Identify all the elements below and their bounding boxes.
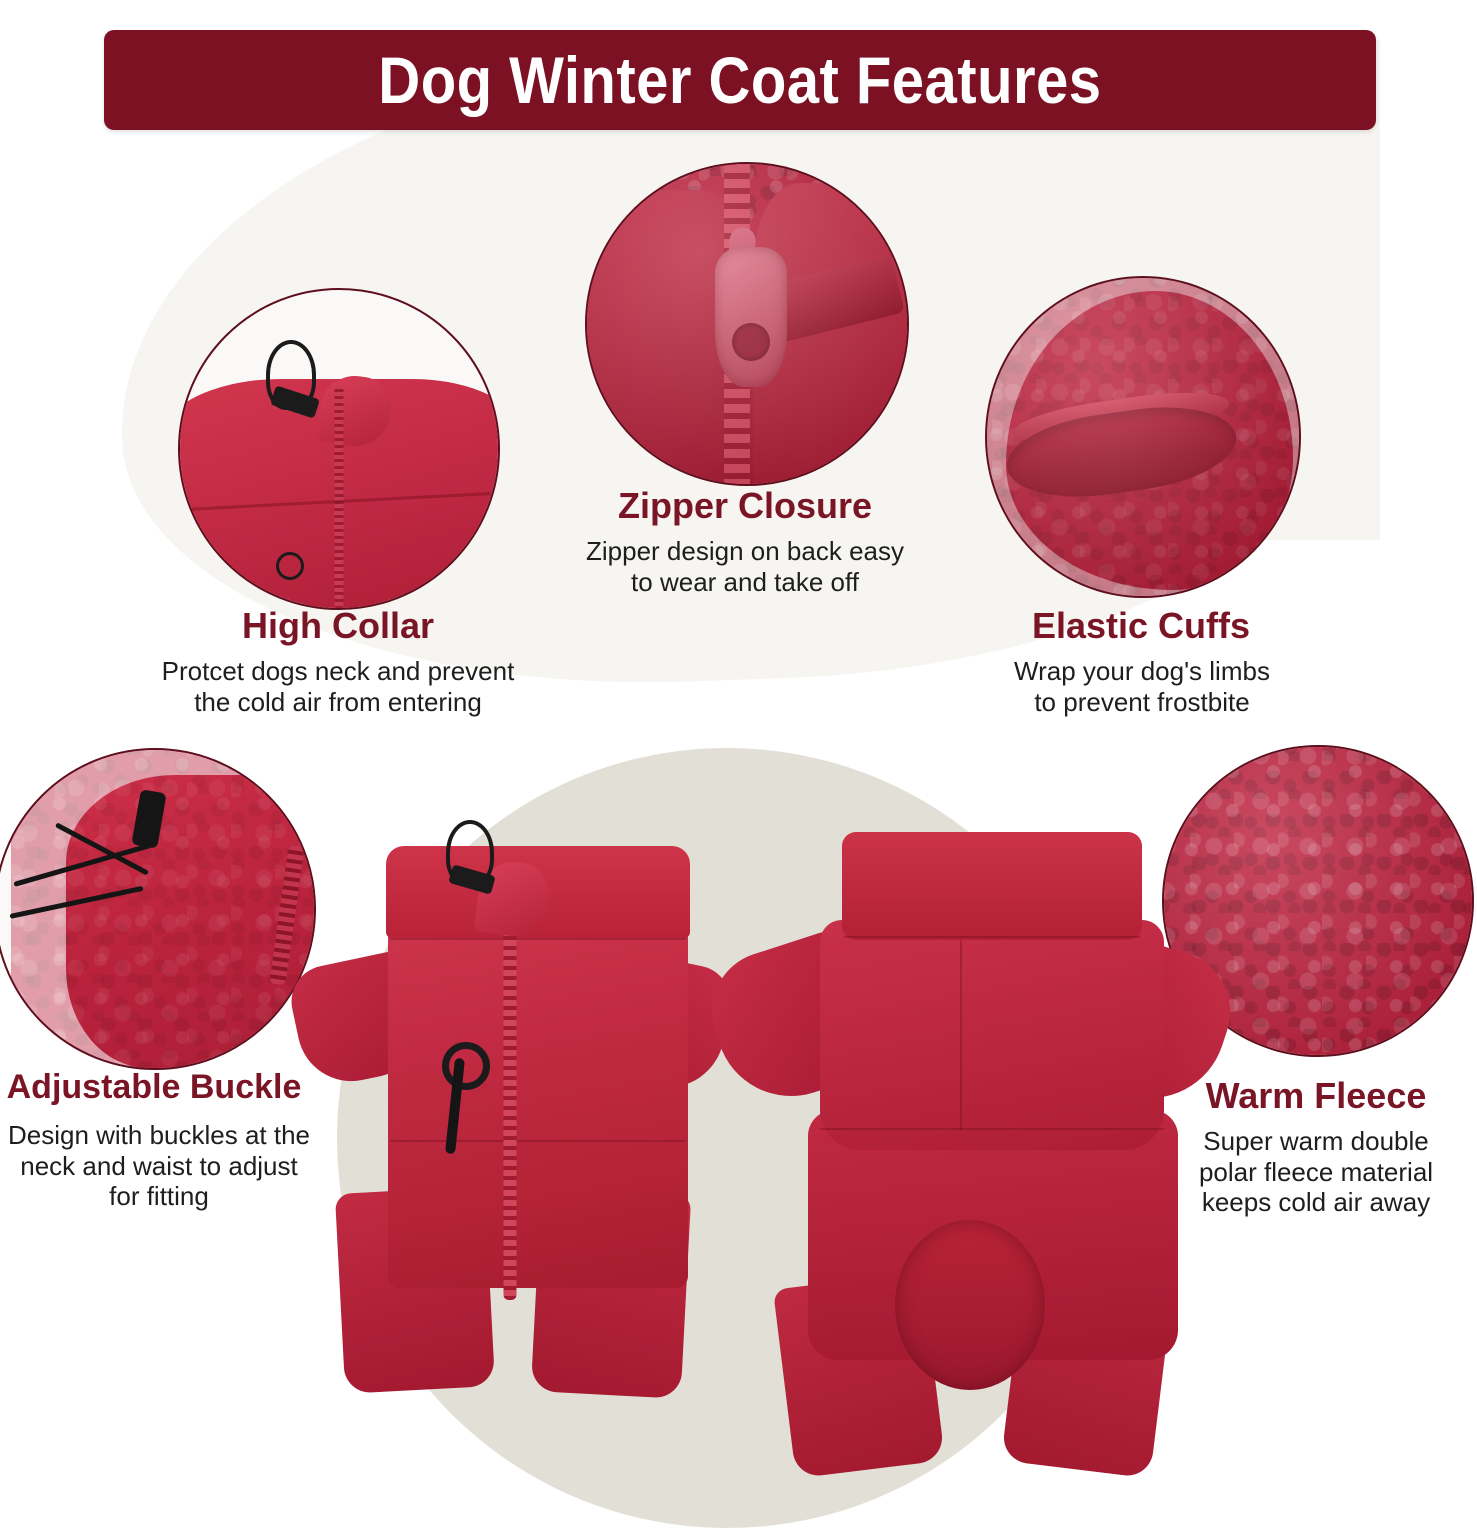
back-collar <box>842 832 1142 940</box>
front-waist-cord-loop <box>442 1042 490 1090</box>
feature-image-elastic-cuffs <box>985 276 1301 598</box>
back-tail-opening <box>895 1220 1045 1390</box>
feature-title-zipper-closure: Zipper Closure <box>565 488 925 524</box>
front-waist-seam <box>390 1140 686 1142</box>
feature-image-high-collar <box>178 288 500 610</box>
buckle-loop-lower <box>276 552 304 580</box>
feature-desc-elastic-cuffs: Wrap your dog's limbs to prevent frostbi… <box>960 656 1324 717</box>
back-center-seam <box>960 940 962 1130</box>
fleece-shading <box>587 164 907 484</box>
back-upper-body <box>820 920 1164 1150</box>
feature-title-elastic-cuffs: Elastic Cuffs <box>985 608 1297 644</box>
feature-title-high-collar: High Collar <box>180 608 496 644</box>
feature-desc-warm-fleece: Super warm double polar fleece material … <box>1152 1126 1477 1218</box>
front-collar-seam <box>390 938 686 940</box>
product-front-view <box>300 810 720 1470</box>
back-waist-seam <box>820 1128 1164 1130</box>
back-collar-seam <box>844 936 1140 938</box>
feature-title-adjustable-buckle: Adjustable Buckle <box>0 1070 312 1104</box>
page-title: Dog Winter Coat Features <box>378 47 1101 113</box>
feature-desc-adjustable-buckle: Design with buckles at the neck and wais… <box>0 1120 318 1212</box>
feature-desc-zipper-closure: Zipper design on back easy to wear and t… <box>545 536 945 597</box>
feature-desc-high-collar: Protcet dogs neck and prevent the cold a… <box>128 656 548 717</box>
feature-image-zipper-closure <box>585 162 909 486</box>
collar-zipper <box>335 385 344 608</box>
feature-title-warm-fleece: Warm Fleece <box>1162 1078 1470 1114</box>
front-zipper <box>504 880 517 1300</box>
cuff-shading <box>987 278 1299 596</box>
feature-image-adjustable-buckle <box>0 748 316 1070</box>
product-back-view <box>760 810 1180 1470</box>
title-banner: Dog Winter Coat Features <box>104 30 1376 130</box>
